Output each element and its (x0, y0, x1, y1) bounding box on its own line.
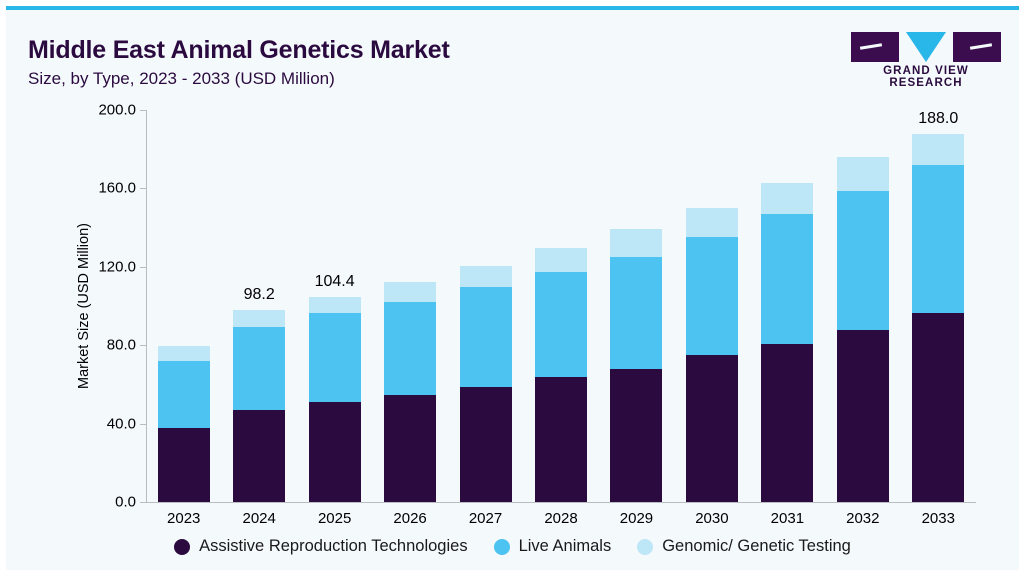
legend-swatch-icon (174, 539, 190, 555)
bar-segment[interactable] (233, 310, 285, 327)
y-axis (146, 110, 147, 502)
bar-segment[interactable] (460, 266, 512, 287)
y-tick-label: 0.0 (115, 494, 136, 511)
x-tick-label: 2028 (544, 510, 577, 527)
chart-legend: Assistive Reproduction TechnologiesLive … (6, 537, 1019, 556)
bar-segment[interactable] (158, 428, 210, 502)
grand-view-research-logo: GRAND VIEW RESEARCH (851, 32, 1001, 84)
bar-segment[interactable] (761, 214, 813, 344)
y-tick-label: 80.0 (107, 337, 136, 354)
bar-segment[interactable] (384, 282, 436, 302)
bar-segment[interactable] (610, 257, 662, 369)
bar-segment[interactable] (460, 287, 512, 387)
bar-stack[interactable]: 188.0 (912, 134, 964, 502)
y-tick-mark (140, 502, 146, 503)
y-axis-label: Market Size (USD Million) (76, 223, 92, 389)
x-tick-label: 2032 (846, 510, 879, 527)
bar-segment[interactable] (384, 302, 436, 395)
bar-segment[interactable] (610, 229, 662, 257)
plot-area: Market Size (USD Million) 0.040.080.0120… (146, 110, 976, 502)
x-axis (146, 502, 976, 503)
y-tick-mark (140, 188, 146, 189)
x-tick-label: 2025 (318, 510, 351, 527)
logo-text: GRAND VIEW RESEARCH (851, 65, 1001, 89)
bar-segment[interactable] (837, 330, 889, 502)
legend-swatch-icon (494, 539, 510, 555)
y-tick-label: 200.0 (98, 102, 136, 119)
bar-segment[interactable] (837, 157, 889, 191)
x-tick-label: 2031 (771, 510, 804, 527)
legend-item[interactable]: Assistive Reproduction Technologies (174, 537, 467, 556)
bar-segment[interactable] (158, 346, 210, 361)
x-tick-label: 2024 (242, 510, 275, 527)
y-tick-mark (140, 424, 146, 425)
y-tick-label: 120.0 (98, 258, 136, 275)
logo-left-block-icon (851, 32, 899, 62)
x-tick-label: 2030 (695, 510, 728, 527)
bar-segment[interactable] (158, 361, 210, 428)
x-tick-label: 2026 (393, 510, 426, 527)
y-tick-mark (140, 345, 146, 346)
y-tick-mark (140, 267, 146, 268)
bar-segment[interactable] (837, 191, 889, 330)
bar-stack[interactable]: 98.2 (233, 310, 285, 502)
x-tick-label: 2029 (620, 510, 653, 527)
bar-stack[interactable] (384, 282, 436, 502)
y-tick-label: 40.0 (107, 415, 136, 432)
bar-stack[interactable] (535, 248, 587, 502)
legend-label: Live Animals (519, 537, 612, 556)
bar-value-label: 188.0 (878, 110, 998, 128)
bar-segment[interactable] (686, 208, 738, 237)
bar-stack[interactable] (460, 266, 512, 502)
logo-mark (851, 32, 1001, 62)
x-tick-label: 2033 (922, 510, 955, 527)
legend-label: Genomic/ Genetic Testing (662, 537, 851, 556)
x-tick-label: 2023 (167, 510, 200, 527)
bar-segment[interactable] (384, 395, 436, 502)
x-tick-label: 2027 (469, 510, 502, 527)
bar-segment[interactable] (686, 355, 738, 502)
logo-right-block-icon (953, 32, 1001, 62)
bar-stack[interactable] (686, 208, 738, 502)
legend-item[interactable]: Live Animals (494, 537, 612, 556)
bar-segment[interactable] (309, 402, 361, 502)
bar-segment[interactable] (535, 272, 587, 377)
legend-label: Assistive Reproduction Technologies (199, 537, 467, 556)
y-tick-label: 160.0 (98, 180, 136, 197)
bar-segment[interactable] (309, 297, 361, 313)
bar-stack[interactable] (761, 183, 813, 502)
bar-segment[interactable] (761, 183, 813, 214)
bar-stack[interactable] (837, 157, 889, 502)
bar-segment[interactable] (912, 165, 964, 313)
bar-stack[interactable] (610, 229, 662, 502)
bar-stack[interactable]: 104.4 (309, 297, 361, 502)
bar-segment[interactable] (686, 237, 738, 355)
bar-segment[interactable] (535, 377, 587, 502)
bar-stack[interactable] (158, 346, 210, 502)
bar-value-label: 104.4 (275, 273, 395, 291)
bar-segment[interactable] (912, 313, 964, 502)
bar-segment[interactable] (912, 134, 964, 165)
chart-card: Middle East Animal Genetics Market Size,… (6, 6, 1019, 570)
bar-segment[interactable] (460, 387, 512, 502)
y-tick-mark (140, 110, 146, 111)
page-subtitle: Size, by Type, 2023 - 2033 (USD Million) (28, 69, 335, 89)
legend-swatch-icon (637, 539, 653, 555)
bar-segment[interactable] (535, 248, 587, 272)
bar-segment[interactable] (761, 344, 813, 502)
bar-segment[interactable] (610, 369, 662, 502)
legend-item[interactable]: Genomic/ Genetic Testing (637, 537, 851, 556)
bar-segment[interactable] (309, 313, 361, 402)
bar-segment[interactable] (233, 410, 285, 503)
page-title: Middle East Animal Genetics Market (28, 36, 450, 65)
bar-segment[interactable] (233, 327, 285, 410)
logo-triangle-icon (906, 32, 946, 62)
